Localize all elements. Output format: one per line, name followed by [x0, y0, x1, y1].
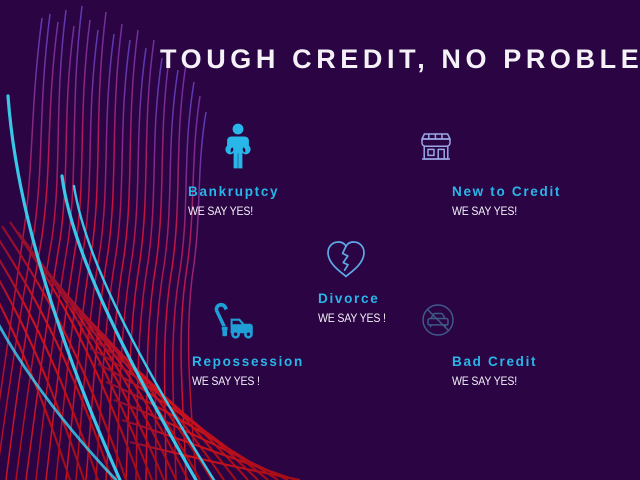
- promo-banner: TOUGH CREDIT, NO PROBLEM Bankruptcy WE S…: [0, 0, 640, 480]
- storefront-icon: [412, 122, 460, 170]
- person-empty-pockets-icon: [214, 122, 262, 170]
- feature-label: New to Credit: [452, 184, 561, 199]
- feature-bankruptcy: Bankruptcy WE SAY YES!: [188, 122, 368, 232]
- feature-subtext: WE SAY YES !: [192, 376, 260, 388]
- feature-subtext: WE SAY YES!: [452, 376, 517, 388]
- feature-label: Bankruptcy: [188, 184, 279, 199]
- feature-bad-credit: Bad Credit WE SAY YES!: [452, 296, 632, 406]
- feature-label: Repossession: [192, 354, 304, 369]
- tow-truck-icon: [210, 296, 258, 344]
- feature-label: Bad Credit: [452, 354, 537, 369]
- feature-subtext: WE SAY YES!: [452, 206, 517, 218]
- feature-repossession: Repossession WE SAY YES !: [192, 296, 392, 406]
- page-title: TOUGH CREDIT, NO PROBLEM: [160, 44, 610, 75]
- broken-heart-icon: [322, 235, 370, 283]
- feature-subtext: WE SAY YES!: [188, 206, 253, 218]
- no-car-icon: [414, 296, 462, 344]
- feature-new-to-credit: New to Credit WE SAY YES!: [452, 122, 632, 232]
